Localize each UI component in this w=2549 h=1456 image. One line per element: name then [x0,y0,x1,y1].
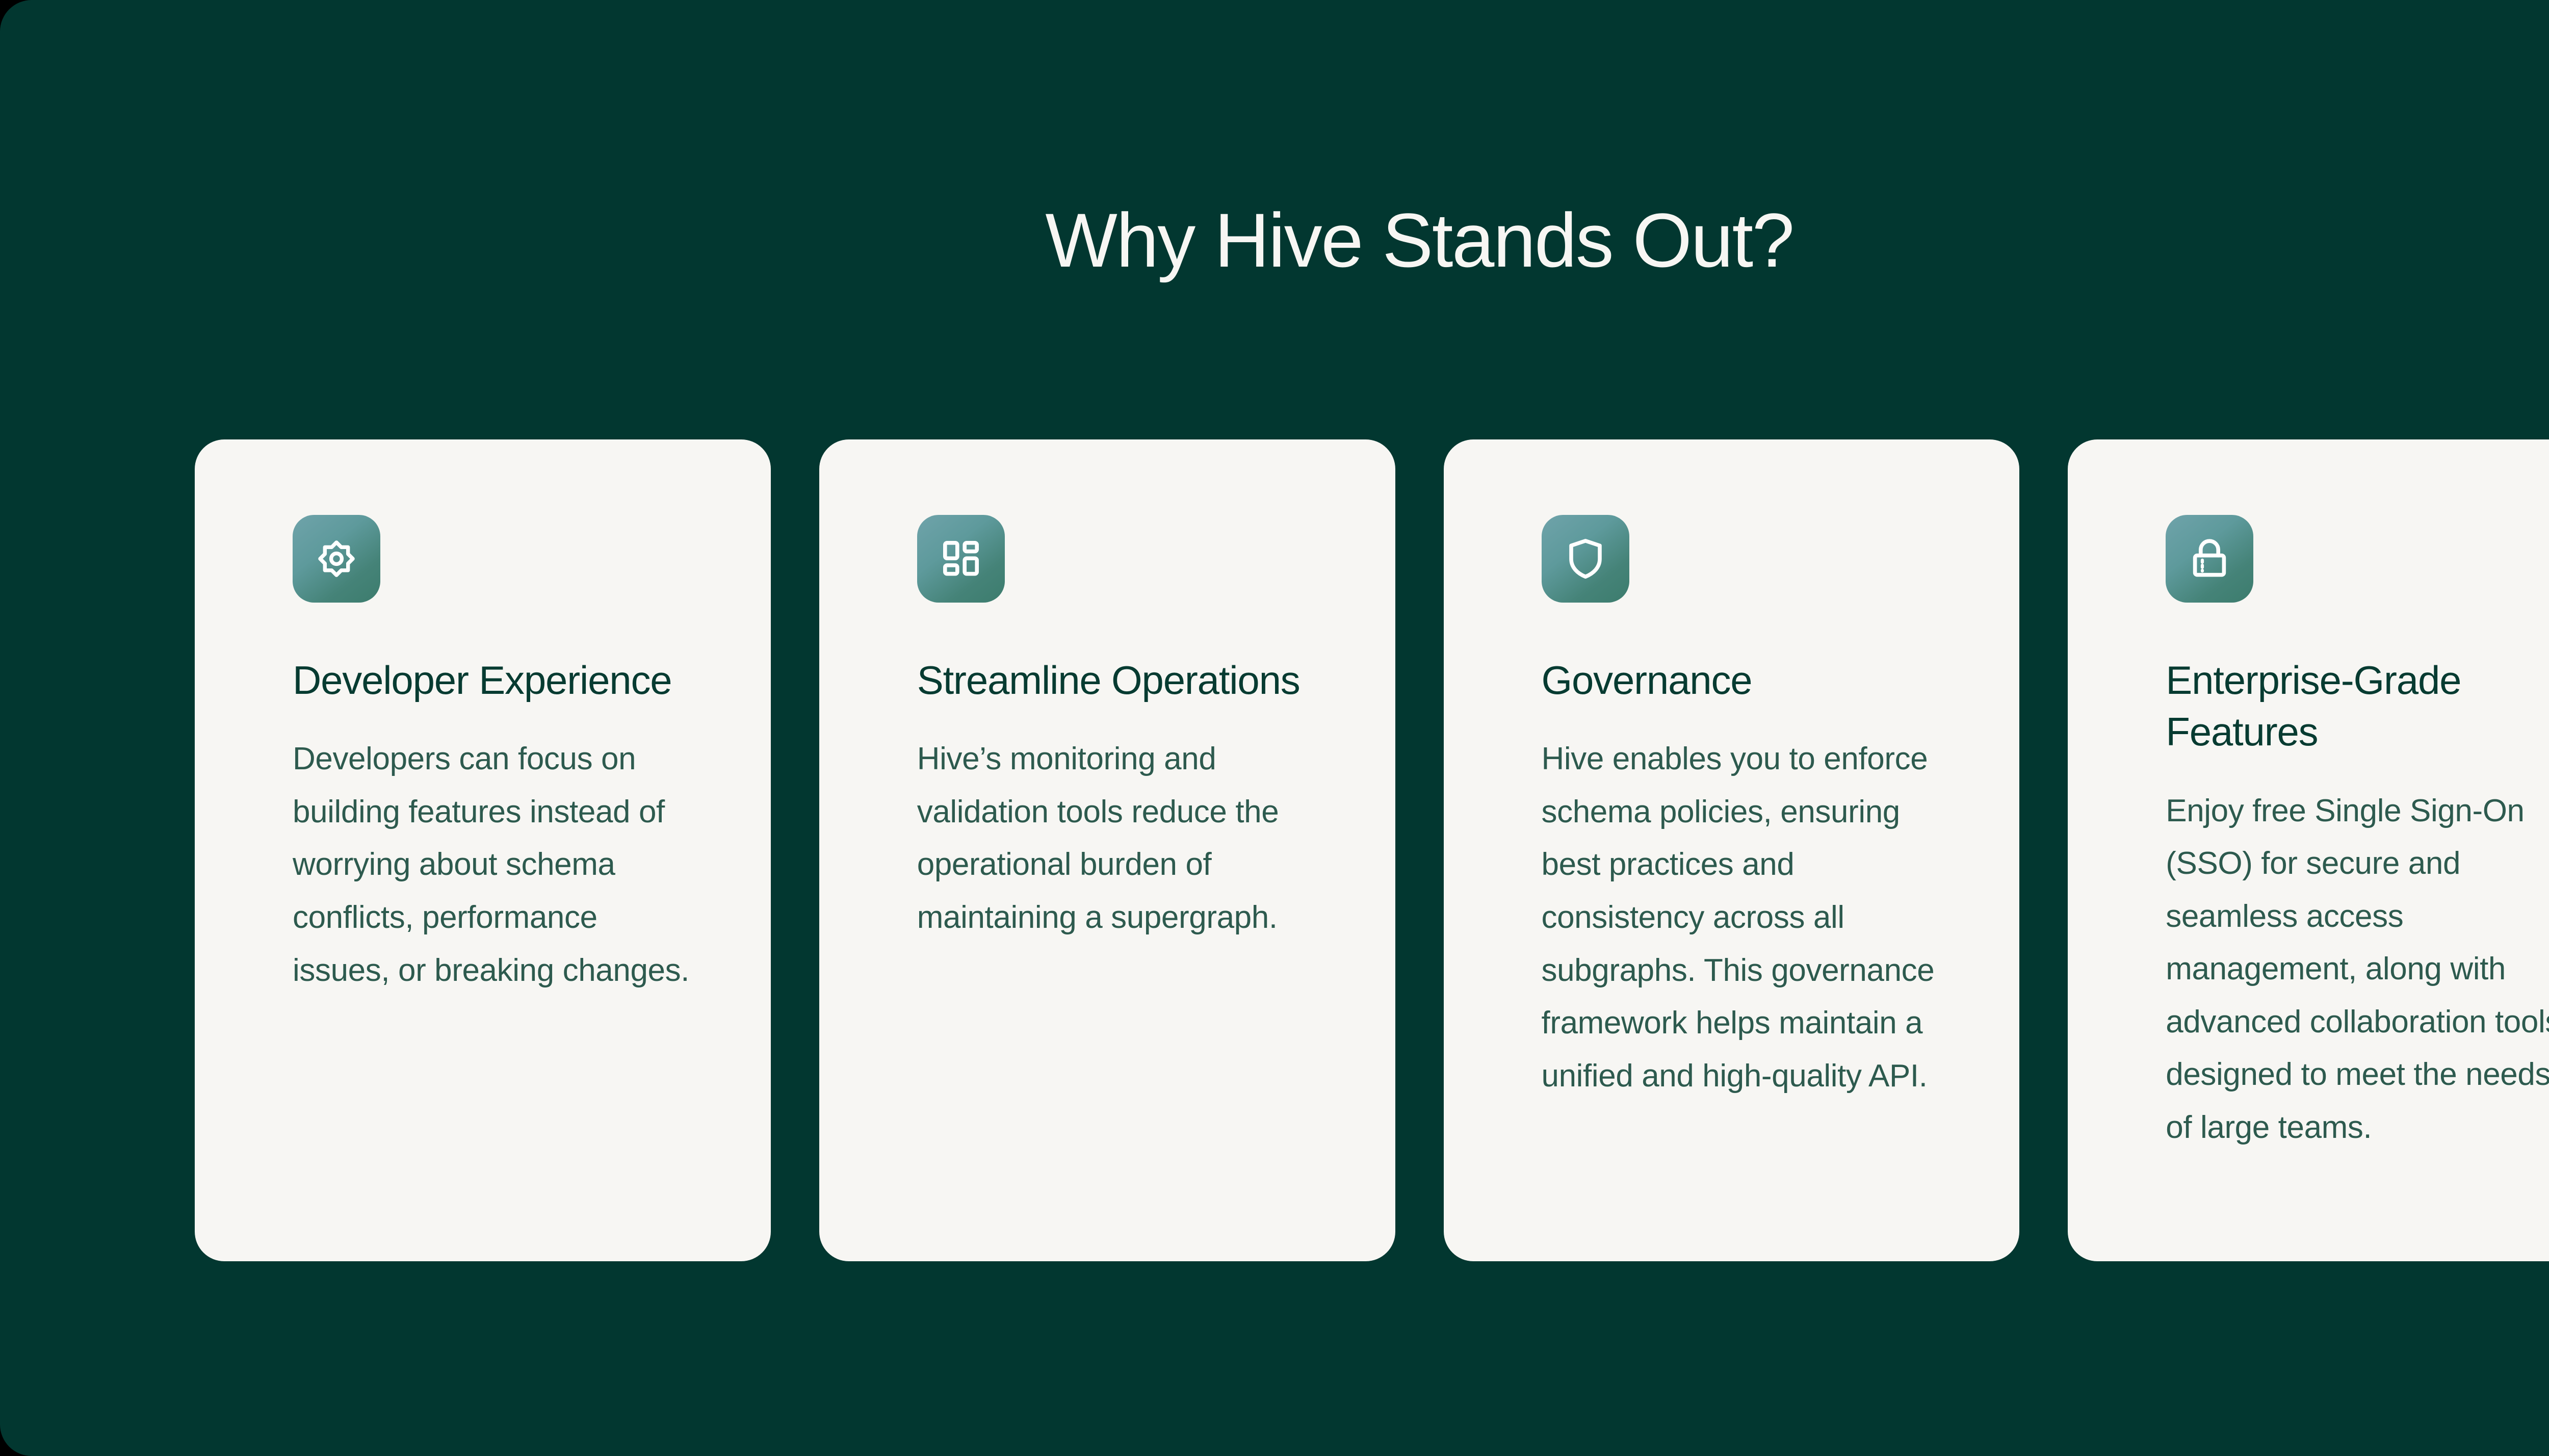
card-body: Hive’s monitoring and validation tools r… [917,733,1319,944]
icon-tile [293,515,380,603]
feature-card-list: Developer Experience Developers can focu… [195,439,2549,1261]
lock-icon [2185,534,2234,583]
card-body: Enjoy free Single Sign-On (SSO) for secu… [2166,785,2549,1154]
dashboard-grid-icon [937,534,985,583]
feature-card-governance[interactable]: Governance Hive enables you to enforce s… [1444,439,2020,1261]
gear-icon [312,534,361,583]
feature-card-streamline-operations[interactable]: Streamline Operations Hive’s monitoring … [819,439,1395,1261]
card-title: Streamline Operations [917,655,1300,706]
feature-section-panel: Why Hive Stands Out? Developer Experienc… [0,0,2549,1456]
screenshot-stage: Why Hive Stands Out? Developer Experienc… [0,0,2549,1456]
card-title: Developer Experience [293,655,671,706]
card-body: Hive enables you to enforce schema polic… [1542,733,1943,1102]
icon-tile [1542,515,1629,603]
icon-tile [2166,515,2253,603]
page-title: Why Hive Stands Out? [0,197,2549,284]
icon-tile [917,515,1005,603]
feature-card-enterprise-grade-features[interactable]: Enterprise-Grade Features Enjoy free Sin… [2068,439,2549,1261]
feature-card-developer-experience[interactable]: Developer Experience Developers can focu… [195,439,771,1261]
card-body: Developers can focus on building feature… [293,733,694,997]
card-title: Governance [1542,655,1752,706]
shield-icon [1561,534,1610,583]
card-title: Enterprise-Grade Features [2166,655,2549,758]
